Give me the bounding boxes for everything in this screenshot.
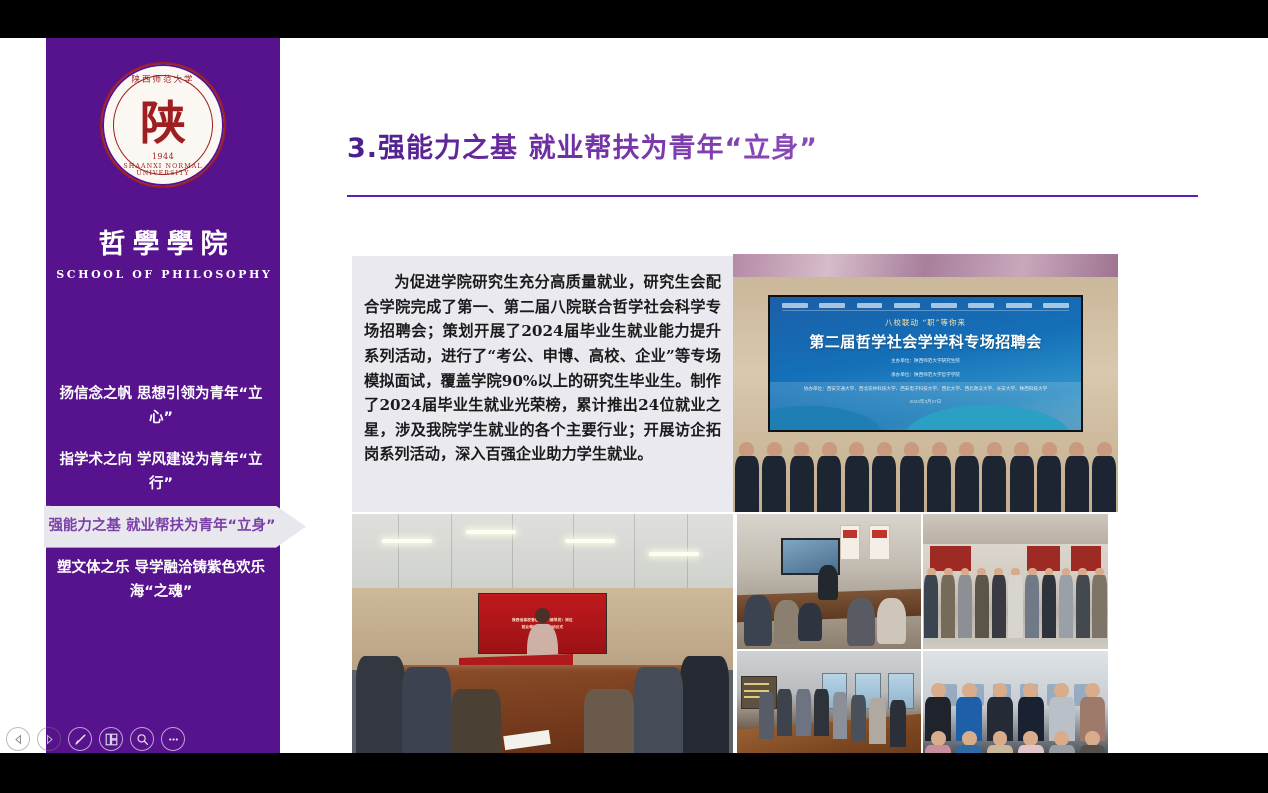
body-paragraph: 为促进学院研究生充分高质量就业，研究生会配合学院完成了第一、第二届八院联合哲学社…: [364, 270, 721, 467]
photo-ceiling: [923, 514, 1108, 544]
magnifier-icon: [136, 733, 149, 746]
previous-slide-button[interactable]: [6, 727, 30, 751]
college-name-cn: 哲學學院: [92, 222, 235, 261]
presentation-stage: 陕西师范大学 陕 1944 SHAANXI NORMAL UNIVERSITY …: [0, 0, 1268, 793]
body-text-panel: 为促进学院研究生充分高质量就业，研究生会配合学院完成了第一、第二届八院联合哲学社…: [352, 256, 733, 512]
sponsor-logo-row: [782, 302, 1069, 311]
pen-tool-button[interactable]: [68, 727, 92, 751]
sidebar-item-zhihun[interactable]: 塑文体之乐 导学融洽铸紫色欢乐海“之魂”: [46, 548, 280, 614]
photo-enterprise-visit-group: [923, 514, 1108, 649]
photo-mock-interview-session: [737, 514, 921, 649]
photo-meeting-launch-ceremony: 陕西省高校管理干部（辅导员）岗位 就业帮扶对接会启动仪式: [352, 514, 733, 753]
slide-canvas: 陕西师范大学 陕 1944 SHAANXI NORMAL UNIVERSITY …: [0, 38, 1268, 753]
slide-overview-button[interactable]: [99, 727, 123, 751]
led-banner-screen: 八校联动 “职”等你来 第二届哲学社会学学科专场招聘会 主办单位：陕西师范大学研…: [768, 295, 1084, 432]
next-slide-button[interactable]: [37, 727, 61, 751]
banner-organizer-2: 承办单位：陕西师范大学哲学学院: [891, 371, 960, 380]
seal-bottom-text: SHAANXI NORMAL UNIVERSITY: [102, 163, 224, 177]
photo-grid: [737, 514, 1108, 753]
university-seal-icon: 陕西师范大学 陕 1944 SHAANXI NORMAL UNIVERSITY: [100, 62, 226, 188]
more-options-button[interactable]: [161, 727, 185, 751]
sidebar-nav: 扬信念之帆 思想引领为青年“立心” 指学术之向 学风建设为青年“立行” 强能力之…: [46, 374, 308, 613]
triangle-left-icon: [13, 734, 24, 745]
photo-ceiling-grid: [352, 514, 733, 588]
sidebar-item-lixin[interactable]: 扬信念之帆 思想引领为青年“立心”: [46, 374, 280, 440]
presentation-toolbar: [6, 727, 185, 751]
banner-graphic: [770, 382, 1082, 430]
title-underline-divider: [347, 195, 1198, 197]
triangle-right-icon: [44, 734, 55, 745]
photo-job-fair-group: 八校联动 “职”等你来 第二届哲学社会学学科专场招聘会 主办单位：陕西师范大学研…: [733, 254, 1118, 512]
photo-ceiling: [733, 254, 1118, 277]
grid-icon: [105, 733, 118, 746]
photo-long-table-meeting: [737, 651, 921, 753]
sidebar: 陕西师范大学 陕 1944 SHAANXI NORMAL UNIVERSITY …: [46, 38, 280, 753]
banner-slogan: 八校联动 “职”等你来: [885, 317, 966, 328]
ellipsis-icon: [167, 733, 180, 746]
sidebar-item-lixing[interactable]: 指学术之向 学风建设为青年“立行”: [46, 440, 280, 506]
seal-year: 1944: [102, 152, 224, 161]
letterbox-bottom: [0, 753, 1268, 793]
photo-people-row: [923, 555, 1108, 639]
banner-title: 第二届哲学社会学学科专场招聘会: [809, 331, 1042, 352]
seal-top-text: 陕西师范大学: [102, 73, 224, 85]
seal-character: 陕: [140, 100, 186, 146]
zoom-tool-button[interactable]: [130, 727, 154, 751]
page-title: 3.强能力之基 就业帮扶为青年“立身”: [347, 126, 818, 165]
banner-organizer-1: 主办单位：陕西师范大学研究生院: [891, 357, 960, 366]
college-name-en: SCHOOL OF PHILOSOPHY: [54, 268, 273, 281]
sidebar-item-lishen[interactable]: 强能力之基 就业帮扶为青年“立身”: [44, 506, 306, 548]
letterbox-top: [0, 0, 1268, 38]
pen-icon: [74, 733, 87, 746]
photo-seated-row: [923, 733, 1108, 753]
photo-people-row: [733, 424, 1118, 512]
university-logo: 陕西师范大学 陕 1944 SHAANXI NORMAL UNIVERSITY …: [46, 62, 280, 281]
photo-stage-group-photo: [923, 651, 1108, 753]
